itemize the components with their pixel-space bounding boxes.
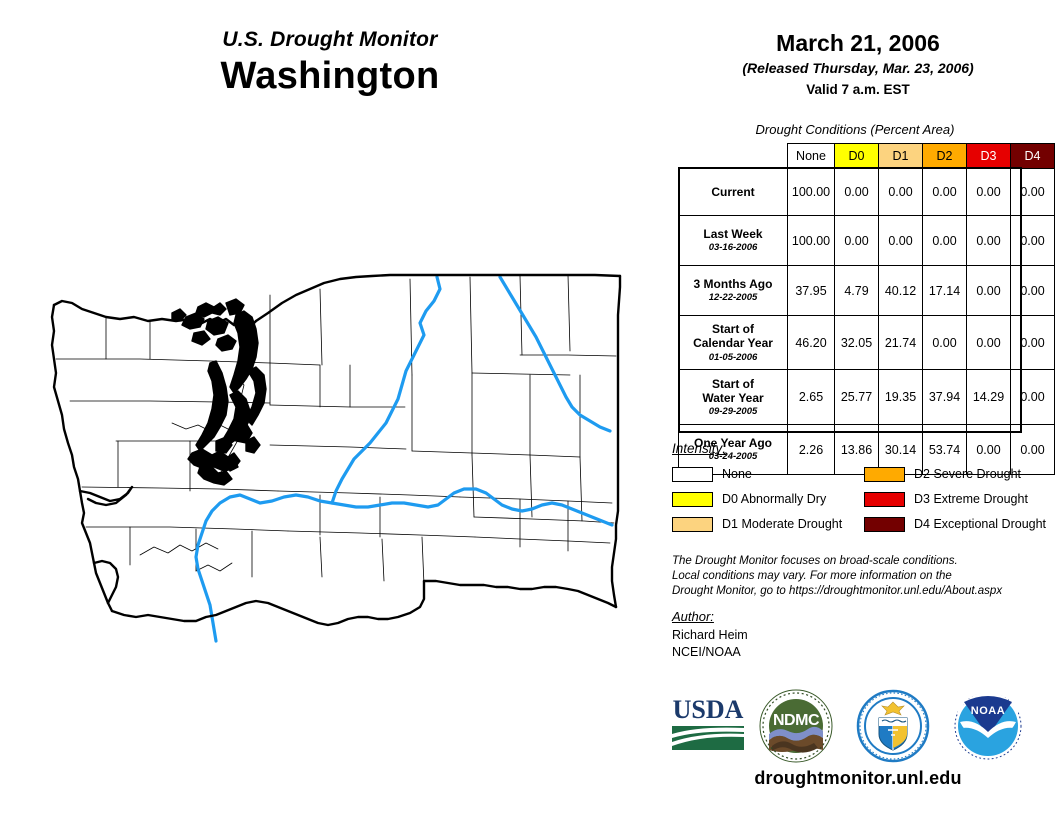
row-label-start-water-year: Start of Water Year 09-29-2005 (679, 370, 788, 425)
disclaimer-line-2: Local conditions may vary. For more info… (672, 569, 1052, 584)
row-label-current: Current (679, 169, 788, 216)
table-caption: Drought Conditions (Percent Area) (660, 122, 1050, 137)
cell-wy-none: 2.65 (788, 370, 835, 425)
cell-cal-d2: 0.00 (923, 316, 967, 370)
cell-wy-d4: 0.00 (1011, 370, 1055, 425)
map-fill-layer (54, 275, 620, 613)
legend-item-d1: D1 Moderate Drought (672, 512, 864, 536)
table-row: Start of Calendar Year 01-05-2006 46.20 … (679, 316, 1055, 370)
column-header-d3: D3 (967, 144, 1011, 169)
usda-logo[interactable]: USDA (668, 688, 748, 758)
legend-item-d0: D0 Abnormally Dry (672, 487, 864, 511)
column-header-d4: D4 (1011, 144, 1055, 169)
legend-column-left: None D0 Abnormally Dry D1 Moderate Droug… (672, 462, 864, 537)
table-row: Last Week 03-16-2006 100.00 0.00 0.00 0.… (679, 216, 1055, 266)
info-panel: March 21, 2006 (Released Thursday, Mar. … (660, 0, 1056, 816)
cell-lastweek-d4: 0.00 (1011, 216, 1055, 266)
cell-3mo-d4: 0.00 (1011, 266, 1055, 316)
table-body: Current 100.00 0.00 0.00 0.00 0.00 0.00 … (679, 169, 1055, 475)
disclaimer-line-3[interactable]: Drought Monitor, go to https://droughtmo… (672, 584, 1052, 599)
title-block: U.S. Drought Monitor Washington (0, 28, 660, 99)
released-on: (Released Thursday, Mar. 23, 2006) (660, 59, 1056, 77)
cell-lastweek-d0: 0.00 (835, 216, 879, 266)
intensity-legend: Intensity: None D0 Abnormally Dry D1 Mod… (672, 441, 1056, 537)
cell-lastweek-none: 100.00 (788, 216, 835, 266)
swatch-d0-icon (672, 492, 713, 507)
legend-label-d0: D0 Abnormally Dry (722, 492, 826, 506)
row-label-date: 03-16-2006 (681, 242, 785, 253)
usda-logo-text: USDA (673, 695, 744, 724)
page-title: Washington (0, 55, 660, 99)
legend-label-d2: D2 Severe Drought (914, 467, 1021, 481)
legend-item-d2: D2 Severe Drought (864, 462, 1056, 486)
column-header-none: None (788, 144, 835, 169)
usda-logo-svg: USDA (668, 688, 748, 758)
author-block: Author: Richard Heim NCEI/NOAA (672, 609, 1052, 661)
cell-wy-d2: 37.94 (923, 370, 967, 425)
ndmc-logo-svg: NDMC (758, 688, 834, 764)
release-date: March 21, 2006 (660, 30, 1056, 56)
legend-item-d4: D4 Exceptional Drought (864, 512, 1056, 536)
column-header-d0: D0 (835, 144, 879, 169)
cell-3mo-d1: 40.12 (879, 266, 923, 316)
author-name: Richard Heim (672, 627, 1052, 644)
cell-cal-none: 46.20 (788, 316, 835, 370)
row-label-date: 12-22-2005 (681, 292, 785, 303)
cell-wy-d1: 19.35 (879, 370, 923, 425)
legend-label-d1: D1 Moderate Drought (722, 517, 842, 531)
legend-column-right: D2 Severe Drought D3 Extreme Drought D4 … (864, 462, 1056, 537)
drought-conditions-table: None D0 D1 D2 D3 D4 Current 100.00 0.00 … (678, 143, 1055, 475)
cell-cal-d1: 21.74 (879, 316, 923, 370)
program-title: U.S. Drought Monitor (0, 28, 660, 51)
state-map-svg[interactable] (20, 255, 645, 645)
noaa-logo-text: NOAA (971, 705, 1005, 717)
row-label-text-line1: Start of (712, 377, 754, 391)
table-corner-cell (679, 144, 788, 169)
noaa-logo[interactable]: NOAA (950, 688, 1026, 764)
cell-current-d4: 0.00 (1011, 169, 1055, 216)
row-label-text-line2: Water Year (702, 391, 763, 405)
cell-wy-d0: 25.77 (835, 370, 879, 425)
swatch-d2-icon (864, 467, 905, 482)
row-label-last-week: Last Week 03-16-2006 (679, 216, 788, 266)
swatch-none-icon (672, 467, 713, 482)
dept-commerce-seal-svg (855, 688, 931, 764)
row-label-text-line2: Calendar Year (693, 336, 773, 350)
legend-item-d3: D3 Extreme Drought (864, 487, 1056, 511)
cell-cal-d3: 0.00 (967, 316, 1011, 370)
cell-3mo-d0: 4.79 (835, 266, 879, 316)
cell-current-none: 100.00 (788, 169, 835, 216)
swatch-d4-icon (864, 517, 905, 532)
row-label-text: Last Week (703, 227, 762, 241)
cell-lastweek-d2: 0.00 (923, 216, 967, 266)
table-row: 3 Months Ago 12-22-2005 37.95 4.79 40.12… (679, 266, 1055, 316)
row-label-text-line1: Start of (712, 322, 754, 336)
cell-lastweek-d3: 0.00 (967, 216, 1011, 266)
cell-current-d1: 0.00 (879, 169, 923, 216)
row-label-text: Current (711, 185, 754, 199)
intensity-heading: Intensity: (672, 441, 1056, 456)
washington-drought-map[interactable] (20, 255, 645, 645)
ndmc-logo[interactable]: NDMC (758, 688, 834, 764)
author-organization: NCEI/NOAA (672, 644, 1052, 661)
cell-wy-d3: 14.29 (967, 370, 1011, 425)
table-header: None D0 D1 D2 D3 D4 (679, 144, 1055, 169)
legend-label-d3: D3 Extreme Drought (914, 492, 1028, 506)
legend-label-d4: D4 Exceptional Drought (914, 517, 1046, 531)
state-fill-none (54, 275, 620, 613)
cell-3mo-d3: 0.00 (967, 266, 1011, 316)
row-label-start-calendar-year: Start of Calendar Year 01-05-2006 (679, 316, 788, 370)
map-panel: U.S. Drought Monitor Washington (0, 0, 660, 816)
date-block: March 21, 2006 (Released Thursday, Mar. … (660, 30, 1056, 98)
row-label-3-months-ago: 3 Months Ago 12-22-2005 (679, 266, 788, 316)
cell-current-d3: 0.00 (967, 169, 1011, 216)
swatch-d1-icon (672, 517, 713, 532)
table-row: Start of Water Year 09-29-2005 2.65 25.7… (679, 370, 1055, 425)
cell-current-d2: 0.00 (923, 169, 967, 216)
valid-time: Valid 7 a.m. EST (660, 81, 1056, 99)
cell-3mo-none: 37.95 (788, 266, 835, 316)
cell-current-d0: 0.00 (835, 169, 879, 216)
column-header-d2: D2 (923, 144, 967, 169)
table-header-row: None D0 D1 D2 D3 D4 (679, 144, 1055, 169)
disclaimer-text: The Drought Monitor focuses on broad-sca… (672, 554, 1052, 600)
cell-lastweek-d1: 0.00 (879, 216, 923, 266)
author-heading: Author: (672, 609, 1052, 624)
ndmc-logo-text: NDMC (773, 712, 820, 729)
row-label-text: 3 Months Ago (694, 277, 773, 291)
noaa-logo-svg: NOAA (950, 688, 1026, 764)
row-label-date: 01-05-2006 (681, 352, 785, 363)
logo-row: USDA NDMC (660, 688, 1056, 772)
site-url[interactable]: droughtmonitor.unl.edu (660, 768, 1056, 789)
column-header-d1: D1 (879, 144, 923, 169)
row-label-date: 09-29-2005 (681, 406, 785, 417)
disclaimer-line-1: The Drought Monitor focuses on broad-sca… (672, 554, 1052, 569)
legend-item-none: None (672, 462, 864, 486)
swatch-d3-icon (864, 492, 905, 507)
legend-columns: None D0 Abnormally Dry D1 Moderate Droug… (672, 462, 1056, 537)
dept-commerce-seal[interactable] (855, 688, 931, 764)
cell-3mo-d2: 17.14 (923, 266, 967, 316)
legend-label-none: None (722, 467, 752, 481)
table-row: Current 100.00 0.00 0.00 0.00 0.00 0.00 (679, 169, 1055, 216)
cell-cal-d4: 0.00 (1011, 316, 1055, 370)
cell-cal-d0: 32.05 (835, 316, 879, 370)
